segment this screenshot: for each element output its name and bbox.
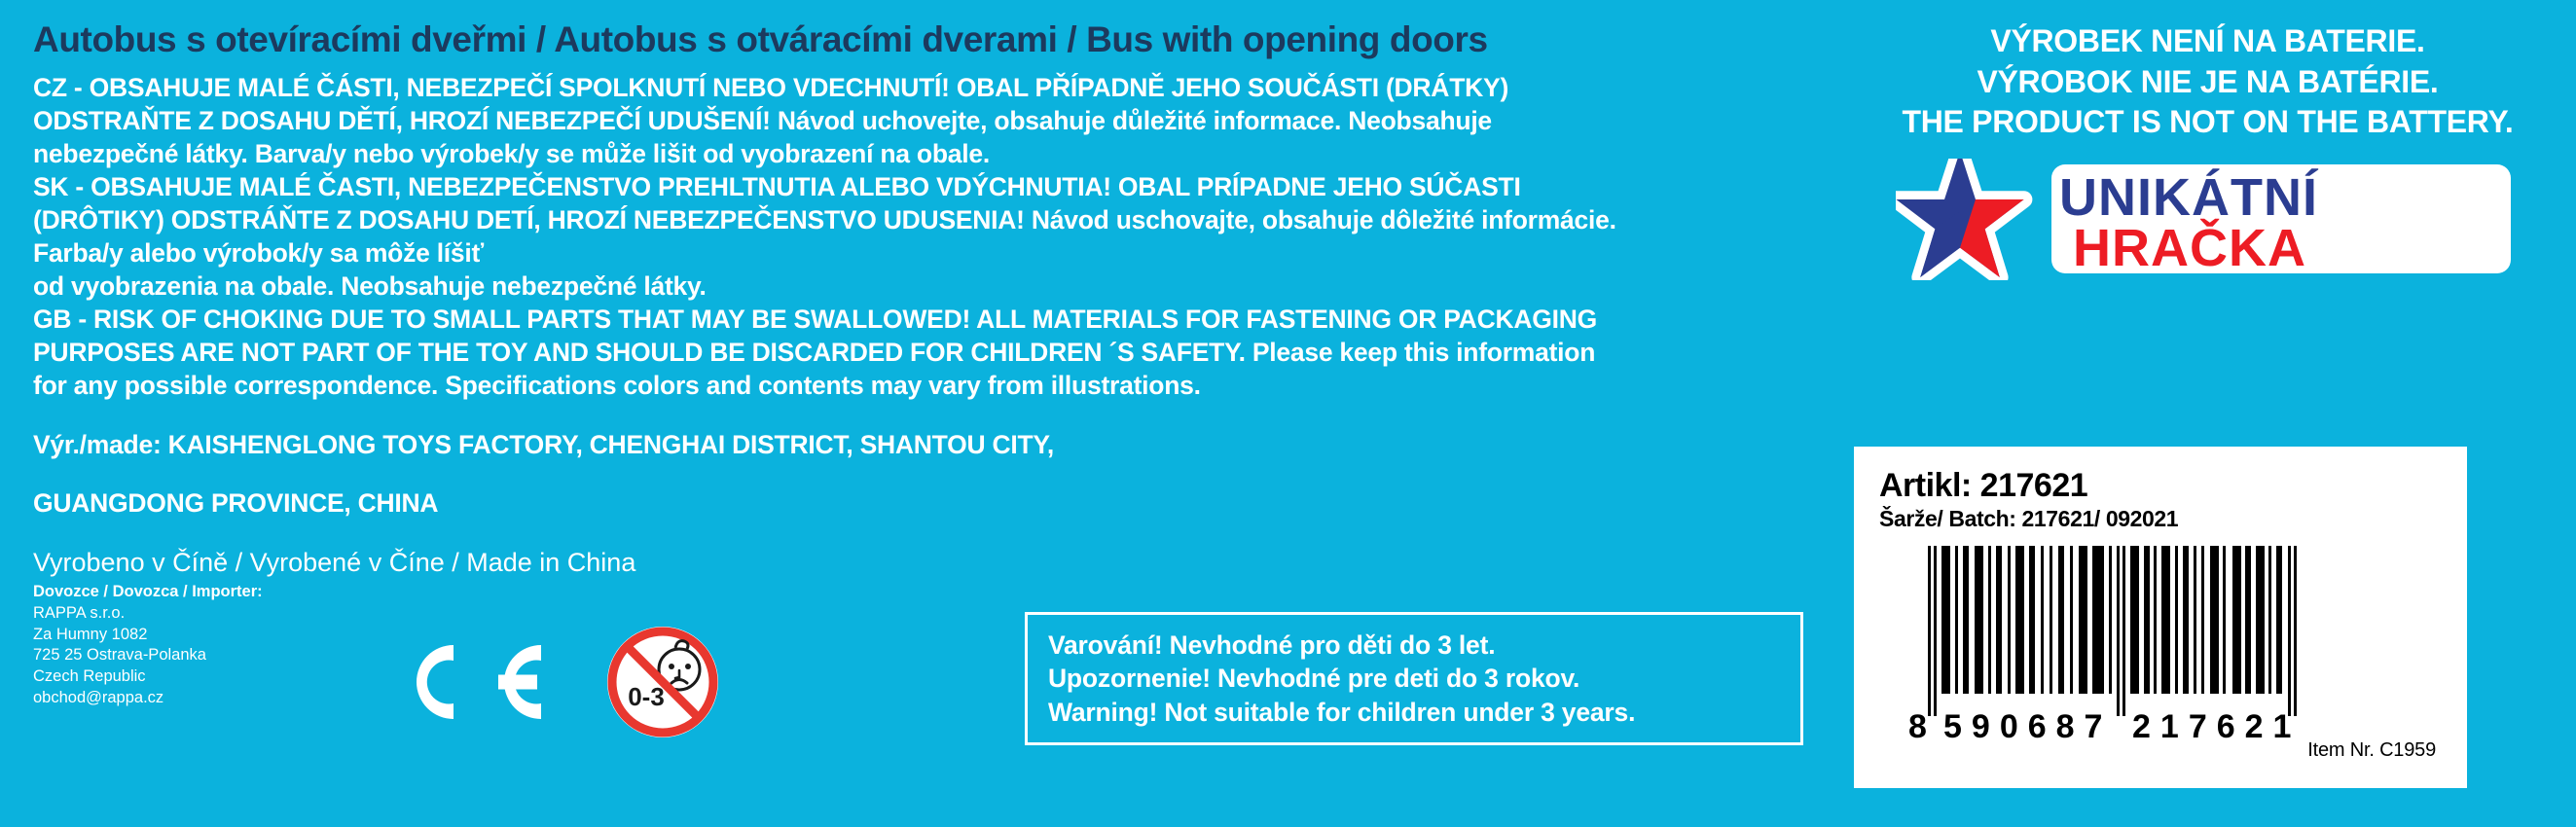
manufacturer-info: Výr./made: KAISHENGLONG TOYS FACTORY, CH… (33, 428, 1814, 521)
notice-line: GB - RISK OF CHOKING DUE TO SMALL PARTS … (33, 303, 1814, 336)
manufacturer-line: GUANGDONG PROVINCE, CHINA (33, 486, 1814, 520)
importer-line: Za Humny 1082 (33, 625, 263, 646)
importer-line: Czech Republic (33, 666, 263, 688)
battery-notice-line: VÝROBEK NENÍ NA BATERIE. (1839, 21, 2576, 62)
ean-group-left: 590687 (1943, 708, 2112, 745)
notice-line: CZ - OBSAHUJE MALÉ ČÁSTI, NEBEZPEČÍ SPOL… (33, 71, 1814, 104)
notice-line: od vyobrazenia na obale. Neobsahuje nebe… (33, 270, 1814, 303)
safety-notice-gb: GB - RISK OF CHOKING DUE TO SMALL PARTS … (33, 303, 1814, 402)
manufacturer-line: Výr./made: KAISHENGLONG TOYS FACTORY, CH… (33, 428, 1814, 461)
logo-line-2: HRAČKA (2073, 218, 2306, 277)
left-text-column: Autobus s otevíracími dveřmi / Autobus s… (33, 21, 1814, 580)
importer-block: Dovozce / Dovozca / Importer: RAPPA s.r.… (33, 582, 263, 709)
importer-line: 725 25 Ostrava-Polanka (33, 645, 263, 666)
notice-line: SK - OBSAHUJE MALÉ ČASTI, NEBEZPEČENSTVO… (33, 170, 1814, 203)
safety-notice-sk: SK - OBSAHUJE MALÉ ČASTI, NEBEZPEČENSTVO… (33, 170, 1814, 303)
ce-mark-icon (393, 637, 549, 727)
notice-line: (DRÔTIKY) ODSTRÁŇTE Z DOSAHU DETÍ, HROZÍ… (33, 203, 1814, 236)
importer-heading: Dovozce / Dovozca / Importer: (33, 582, 263, 603)
notice-line: Farba/y alebo výrobok/y sa môže líšiť (33, 236, 1814, 270)
notice-line: ODSTRAŇTE Z DOSAHU DĚTÍ, HROZÍ NEBEZPEČÍ… (33, 104, 1814, 137)
ean13-barcode: 8 590687 217621 (1899, 546, 2327, 745)
battery-notice-line: THE PRODUCT IS NOT ON THE BATTERY. (1839, 102, 2576, 143)
article-number: Artikl: 217621 (1879, 468, 2442, 504)
battery-notice: VÝROBEK NENÍ NA BATERIE. VÝROBOK NIE JE … (1839, 21, 2576, 143)
notice-line: PURPOSES ARE NOT PART OF THE TOY AND SHO… (33, 336, 1814, 369)
logo-line-1: UNIKÁTNÍ (2059, 168, 2319, 227)
warning-line: Varování! Nevhodné pro děti do 3 let. (1048, 629, 1800, 662)
notice-line: for any possible correspondence. Specifi… (33, 369, 1814, 402)
importer-line: RAPPA s.r.o. (33, 603, 263, 625)
made-in-text: Vyrobeno v Číně / Vyrobené v Číne / Made… (33, 546, 1814, 580)
batch-number: Šarže/ Batch: 217621/ 092021 (1879, 506, 2442, 531)
importer-email: obchod@rappa.cz (33, 688, 263, 709)
ean-group-right: 217621 (2132, 708, 2301, 745)
warning-line: Warning! Not suitable for children under… (1048, 696, 1800, 729)
unikatni-hracka-logo: UNIKÁTNÍ HRAČKA (1896, 159, 2519, 280)
ean-left-digit: 8 (1908, 708, 1927, 745)
age-warning-box: Varování! Nevhodné pro děti do 3 let. Up… (1025, 612, 1803, 745)
svg-text:0-3: 0-3 (628, 682, 665, 711)
barcode-label: Artikl: 217621 Šarže/ Batch: 217621/ 092… (1854, 447, 2467, 788)
warning-line: Upozornenie! Nevhodné pre deti do 3 roko… (1048, 662, 1800, 695)
safety-notice-cz: CZ - OBSAHUJE MALÉ ČÁSTI, NEBEZPEČÍ SPOL… (33, 71, 1814, 170)
age-restriction-0-3-icon: 0-3 (603, 623, 722, 741)
battery-notice-line: VÝROBOK NIE JE NA BATÉRIE. (1839, 62, 2576, 103)
label-artwork: Autobus s otevíracími dveřmi / Autobus s… (0, 0, 2576, 827)
page-title: Autobus s otevíracími dveřmi / Autobus s… (33, 21, 1814, 59)
notice-line: nebezpečné látky. Barva/y nebo výrobek/y… (33, 137, 1814, 170)
